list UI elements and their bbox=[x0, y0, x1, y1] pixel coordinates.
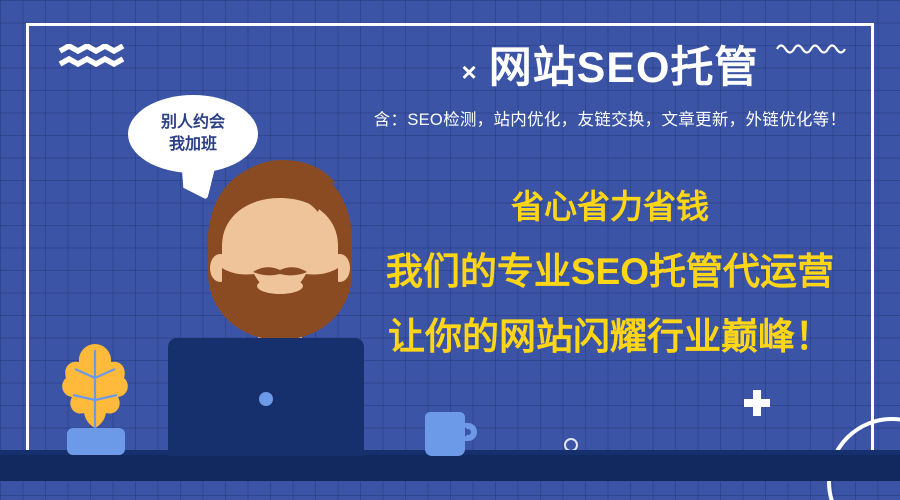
coffee-mug-icon bbox=[425, 412, 465, 456]
slogan-line-2: 我们的专业SEO托管代运营 bbox=[330, 253, 890, 290]
speech-bubble: 别人约会 我加班 bbox=[128, 95, 258, 173]
plant-pot bbox=[67, 428, 125, 455]
mug-body bbox=[425, 412, 465, 456]
speech-bubble-line-1: 别人约会 bbox=[161, 112, 225, 134]
subtitle: 含：SEO检测，站内优化，友链交换，文章更新，外链优化等！ bbox=[330, 106, 890, 130]
plus-icon bbox=[744, 390, 770, 416]
potted-leaf-plant-icon bbox=[55, 340, 135, 455]
headline-block: × 网站SEO托管 含：SEO检测，站内优化，友链交换，文章更新，外链优化等！ bbox=[330, 45, 890, 130]
page-title: 网站SEO托管 bbox=[489, 45, 759, 92]
x-mark-icon: × bbox=[462, 59, 477, 85]
desk-surface bbox=[0, 455, 900, 481]
title-row: × 网站SEO托管 bbox=[330, 45, 890, 92]
speech-bubble-line-2: 我加班 bbox=[169, 134, 217, 156]
laptop-logo-dot bbox=[259, 392, 273, 406]
seo-promo-banner: 别人约会 我加班 × 网站SEO托管 含：SEO检测，站内优化，友链交换，文章更… bbox=[0, 0, 900, 500]
slogan-line-3: 让你的网站闪耀行业巅峰！ bbox=[330, 318, 890, 355]
laptop-icon bbox=[168, 338, 364, 456]
mug-handle bbox=[461, 423, 477, 441]
slogan-list: 省心省力省钱 我们的专业SEO托管代运营 让你的网站闪耀行业巅峰！ bbox=[330, 190, 890, 355]
slogan-line-1: 省心省力省钱 bbox=[330, 190, 890, 223]
